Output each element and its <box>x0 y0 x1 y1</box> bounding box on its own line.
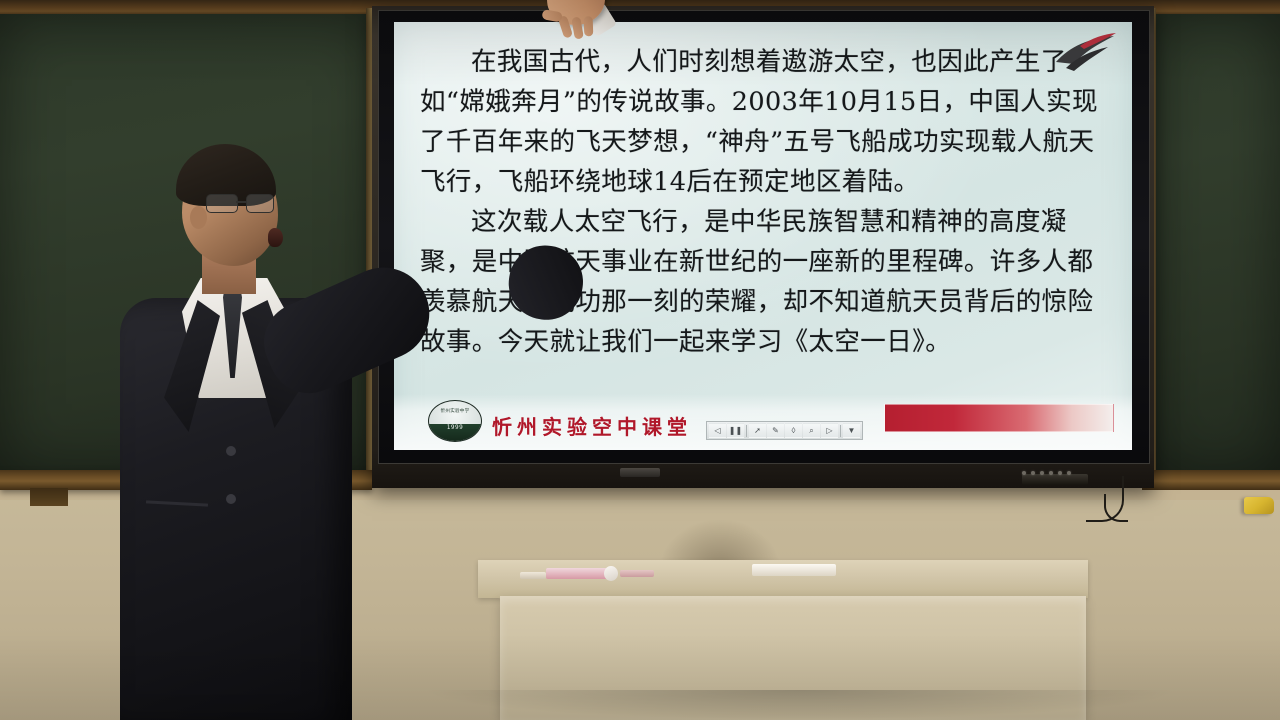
previous-slide-icon[interactable]: ◁ <box>709 423 726 438</box>
glasses-lens-right <box>246 194 274 213</box>
banner-title: 忻州实验空中课堂 <box>492 411 692 440</box>
shelf-item-chalk-box[interactable] <box>620 570 654 577</box>
display-control-buttons[interactable] <box>1022 469 1114 476</box>
menu-icon[interactable]: ▼ <box>843 423 860 438</box>
shelf-item-eraser[interactable] <box>520 572 546 579</box>
slide-footer-banner: 忻州实验中学 1999 忻州实验空中课堂 ◁ ❚❚ ➚ ✎ ◊ ⌕ ▷ ▼ <box>394 394 1132 450</box>
teacher-glasses <box>206 194 280 214</box>
chalk-tray-bracket <box>30 488 68 506</box>
teacher-ear <box>190 206 207 229</box>
slide-paragraph-1: 在我国古代，人们时刻想着遨游太空，也因此产生了如“嫦娥奔月”的传说故事。2003… <box>420 42 1106 202</box>
chalk-tray-right <box>1142 470 1280 490</box>
toolbar-separator-2 <box>840 425 841 437</box>
display-brand-mark <box>620 468 660 477</box>
slide-school-emblem: 忻州实验中学 1999 <box>428 400 482 442</box>
teacher-mouth <box>268 228 283 247</box>
eraser-icon[interactable]: ◊ <box>785 423 802 438</box>
slide-emblem-year: 1999 <box>429 424 481 431</box>
slide-accent-bar <box>884 404 1114 432</box>
shelf-item-tape-roll[interactable] <box>604 566 618 581</box>
pen-icon[interactable]: ✎ <box>767 423 784 438</box>
screenshot-root: 在我国古代，人们时刻想着遨游太空，也因此产生了如“嫦娥奔月”的传说故事。2003… <box>0 0 1280 720</box>
floor-shadow <box>420 690 1180 720</box>
yellow-duster[interactable] <box>1244 497 1274 514</box>
teacher-jacket-buttons <box>226 446 236 456</box>
glasses-lens-left <box>206 194 238 213</box>
pause-icon[interactable]: ❚❚ <box>727 423 744 438</box>
pointer-icon[interactable]: ➚ <box>749 423 766 438</box>
powerpoint-floating-toolbar[interactable]: ◁ ❚❚ ➚ ✎ ◊ ⌕ ▷ ▼ <box>706 421 863 440</box>
shelf-item-paper-sheet[interactable] <box>752 564 836 576</box>
glasses-bridge <box>236 201 246 203</box>
display-button-6[interactable] <box>1067 471 1071 475</box>
shelf-item-marker-box[interactable] <box>546 568 608 579</box>
display-button-3[interactable] <box>1040 471 1044 475</box>
display-button-2[interactable] <box>1031 471 1035 475</box>
display-button-1[interactable] <box>1022 471 1026 475</box>
slide-text-block: 在我国古代，人们时刻想着遨游太空，也因此产生了如“嫦娥奔月”的传说故事。2003… <box>420 42 1106 362</box>
toolbar-separator-1 <box>746 425 747 437</box>
display-screen[interactable]: 在我国古代，人们时刻想着遨游太空，也因此产生了如“嫦娥奔月”的传说故事。2003… <box>394 22 1132 450</box>
chalkboard-right <box>1152 14 1280 476</box>
display-button-4[interactable] <box>1049 471 1053 475</box>
teacher-figure <box>120 150 380 720</box>
zoom-icon[interactable]: ⌕ <box>803 423 820 438</box>
teacher-finger-3 <box>584 16 594 36</box>
next-slide-icon[interactable]: ▷ <box>821 423 838 438</box>
display-button-5[interactable] <box>1058 471 1062 475</box>
slide-emblem-arc-text: 忻州实验中学 <box>429 408 481 414</box>
